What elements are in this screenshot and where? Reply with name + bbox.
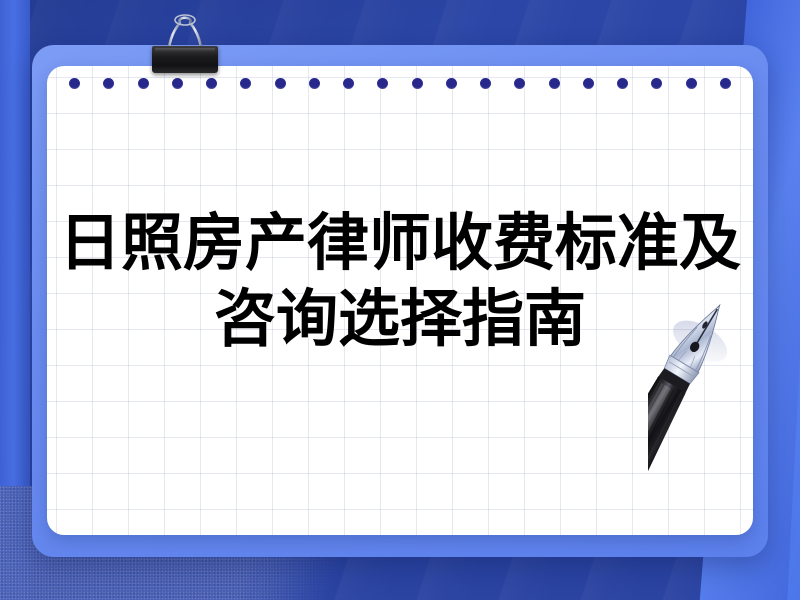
punch-dot (617, 78, 628, 89)
punch-dot (343, 78, 354, 89)
binder-clip-icon (152, 14, 218, 76)
punch-dot (446, 78, 457, 89)
punch-dot (377, 78, 388, 89)
punch-dot (412, 78, 423, 89)
punch-dot (206, 78, 217, 89)
punch-dot (240, 78, 251, 89)
punch-dot (309, 78, 320, 89)
punch-dot (103, 78, 114, 89)
slide-canvas: 日照房产律师收费标准及 咨询选择指南 (0, 0, 800, 600)
punch-dot (686, 78, 697, 89)
punch-dot (480, 78, 491, 89)
punch-dot (549, 78, 560, 89)
punch-dot (514, 78, 525, 89)
punch-dot (275, 78, 286, 89)
punch-dot (172, 78, 183, 89)
punch-dot (720, 78, 731, 89)
punch-dot (651, 78, 662, 89)
punch-dot (69, 78, 80, 89)
page-title: 日照房产律师收费标准及 咨询选择指南 (47, 206, 753, 358)
binder-clip-body (152, 46, 218, 73)
punch-dot (583, 78, 594, 89)
punch-dot (138, 78, 149, 89)
